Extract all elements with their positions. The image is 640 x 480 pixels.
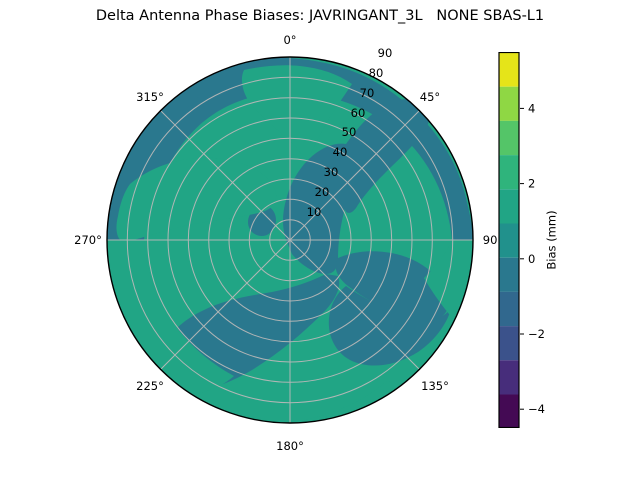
colorbar-band-9 [499,87,519,121]
r-tick-label-70: 70 [360,86,375,100]
theta-label-270: 270° [74,233,102,247]
colorbar-band-7 [499,155,519,189]
colorbar-tick-label-4: 4 [528,101,535,115]
colorbar-bands [499,53,519,428]
colorbar-band-5 [499,224,519,258]
colorbar-band-3 [499,292,519,326]
colorbar-tick-label-2: 2 [528,177,535,191]
colorbar-band-2 [499,326,519,360]
polar-grid [107,57,473,423]
theta-label-0: 0° [283,33,296,47]
colorbar-band-0 [499,395,519,428]
theta-label-180: 180° [276,439,304,453]
theta-label-45: 45° [420,90,440,104]
r-tick-label-90: 90 [378,46,393,60]
r-tick-label-60: 60 [351,106,366,120]
colorbar: 4 2 0 −2 −4 [498,52,520,428]
r-tick-label-40: 40 [333,145,348,159]
colorbar-tick-label-0: 0 [528,252,535,266]
r-tick-label-10: 10 [307,205,322,219]
r-tick-label-80: 80 [369,66,384,80]
colorbar-band-8 [499,121,519,155]
colorbar-axis-label-text: Bias (mm) [545,210,559,269]
colorbar-band-6 [499,189,519,223]
colorbar-band-4 [499,258,519,292]
colorbar-band-1 [499,360,519,394]
theta-label-225: 225° [136,379,164,393]
r-tick-label-50: 50 [342,125,357,139]
theta-label-135: 135° [421,379,449,393]
colorbar-band-10 [499,53,519,87]
r-tick-label-20: 20 [315,185,330,199]
r-tick-label-30: 30 [324,165,339,179]
colorbar-tick-marks [520,108,524,409]
colorbar-gradient [498,52,520,428]
colorbar-axis-label: Bias (mm) [543,52,561,428]
theta-label-315: 315° [136,90,164,104]
figure-canvas: Delta Antenna Phase Biases: JAVRINGANT_3… [0,0,640,480]
